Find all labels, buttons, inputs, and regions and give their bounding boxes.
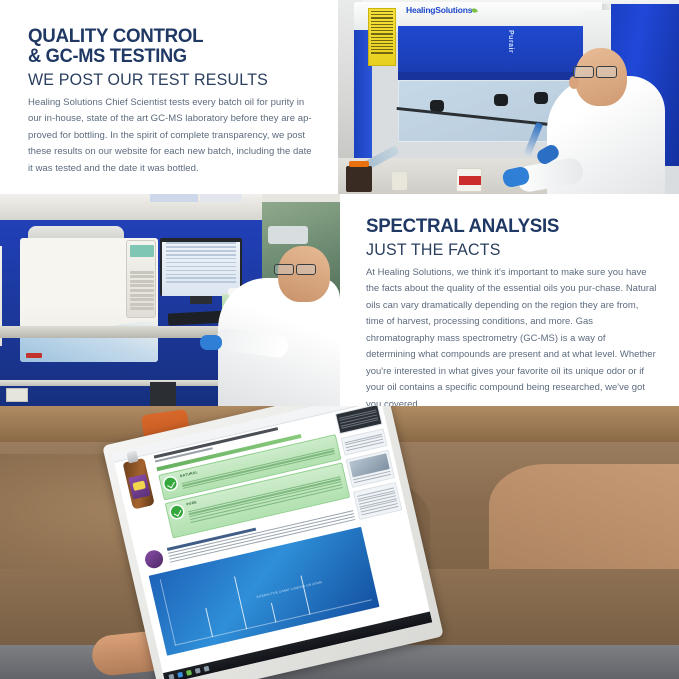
tablet-brand-mark: · · · xyxy=(297,661,306,667)
bottle-label xyxy=(128,474,150,499)
text-spectral-analysis: SPECTRAL ANALYSIS JUST THE FACTS At Heal… xyxy=(340,194,679,406)
monitor-stand xyxy=(190,296,212,304)
text-quality-control: QUALITY CONTROL & GC-MS TESTING WE POST … xyxy=(0,0,340,194)
taskbar-browser-icon[interactable] xyxy=(177,672,183,678)
tablet-bezel: Lavender Essential Oil NATURAL xyxy=(102,406,444,679)
leaf-icon xyxy=(471,7,478,14)
glove-port-3 xyxy=(534,92,548,104)
tablet-device[interactable]: Lavender Essential Oil NATURAL xyxy=(102,406,444,679)
badge-label-pure: PURE xyxy=(186,500,197,506)
fume-hood-front-panel xyxy=(398,26,583,74)
chart-y-axis xyxy=(160,579,176,645)
safety-glasses-icon xyxy=(274,264,316,273)
chart-peak xyxy=(271,603,276,623)
page-title-line1: QUALITY CONTROL xyxy=(28,26,306,47)
taskbar-app-icon[interactable] xyxy=(186,670,192,676)
photo-tablet-test-results: Lavender Essential Oil NATURAL xyxy=(0,406,679,679)
product-bottle-image xyxy=(123,458,155,510)
shelf-box-2 xyxy=(200,194,242,202)
healing-solutions-badge-icon xyxy=(143,548,165,570)
section-subtitle-just-the-facts: JUST THE FACTS xyxy=(366,241,650,260)
taskbar-start-icon[interactable] xyxy=(168,674,174,679)
hazard-warning-label xyxy=(368,8,396,66)
taskbar-folder-icon[interactable] xyxy=(195,668,201,674)
section-title-spectral-analysis: SPECTRAL ANALYSIS xyxy=(366,216,647,237)
photo-fume-hood-lab: HealingSolutions Purair xyxy=(338,0,679,194)
instrument-brand-badge xyxy=(26,353,42,358)
check-circle-icon xyxy=(163,476,177,490)
chart-peak xyxy=(234,576,247,629)
page-subtitle-test-results: WE POST OUR TEST RESULTS xyxy=(28,71,309,90)
body-quality-control: Healing Solutions Chief Scientist tests … xyxy=(28,95,317,178)
check-circle-icon xyxy=(170,505,184,519)
chart-peak xyxy=(301,575,311,614)
shelf-box-1 xyxy=(150,194,198,202)
safety-glasses-icon xyxy=(573,66,617,76)
reagent-bottle-dark xyxy=(346,166,372,192)
reagent-bottle-white xyxy=(456,168,482,192)
taskbar-mail-icon[interactable] xyxy=(204,666,210,672)
body-spectral-analysis: At Healing Solutions, we think it's impo… xyxy=(366,265,658,406)
reagent-bottle-small xyxy=(392,172,407,190)
instrument-control-panel xyxy=(126,240,156,318)
purair-model-text: Purair xyxy=(507,30,514,53)
instrument-keypad xyxy=(130,269,154,313)
glove-port-2 xyxy=(494,94,508,106)
sidebar-pane-text xyxy=(353,482,402,520)
page-title-line2: & GC-MS TESTING xyxy=(28,47,306,67)
fume-hood-front-trim xyxy=(398,72,583,80)
chart-peak xyxy=(205,608,213,637)
sidebar-pane-thumbnail xyxy=(346,450,395,488)
desktop-tower xyxy=(150,382,176,406)
instrument-lcd-display xyxy=(130,245,154,257)
wall-sockets xyxy=(6,388,28,402)
tablet-screen[interactable]: Lavender Essential Oil NATURAL xyxy=(112,406,432,679)
chart-caption: INTERACTIVE CHART LOADING OR ZOOM xyxy=(256,580,322,599)
blue-glove xyxy=(200,335,222,350)
healing-solutions-logo: HealingSolutions xyxy=(406,5,477,15)
photo-gcms-instrument xyxy=(0,194,340,406)
poster-root: QUALITY CONTROL & GC-MS TESTING WE POST … xyxy=(0,0,679,679)
hood-brand-text: HealingSolutions xyxy=(406,5,472,15)
